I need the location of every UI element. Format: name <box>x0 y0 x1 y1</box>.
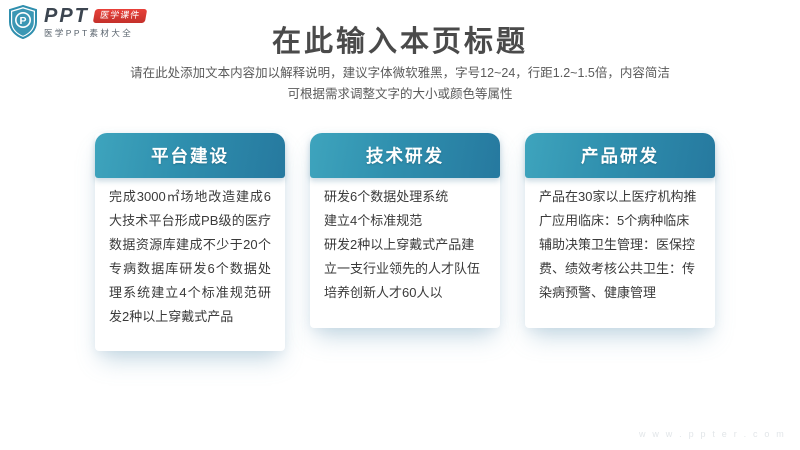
card-title: 产品研发 <box>581 143 659 168</box>
card-platform-construction[interactable]: 完成3000㎡场地改造建成6大技术平台形成PB级的医疗数据资源库建成不少于20个… <box>95 133 285 351</box>
card-text: 完成3000㎡场地改造建成6大技术平台形成PB级的医疗数据资源库建成不少于20个… <box>109 185 271 329</box>
page-subtitle: 请在此处添加文本内容加以解释说明，建议字体微软雅黑，字号12~24，行距1.2~… <box>0 63 800 105</box>
card-title: 技术研发 <box>366 143 444 168</box>
card-text: 研发6个数据处理系统 建立4个标准规范 研发2种以上穿戴式产品建立一支行业领先的… <box>324 185 486 305</box>
card-product-rd[interactable]: 产品在30家以上医疗机构推广应用临床：5个病种临床辅助决策卫生管理：医保控费、绩… <box>525 133 715 351</box>
page-title: 在此输入本页标题 <box>0 18 800 60</box>
card-header[interactable]: 平台建设 <box>95 133 285 178</box>
card-title: 平台建设 <box>151 143 229 168</box>
card-header[interactable]: 技术研发 <box>310 133 500 178</box>
subtitle-line-2: 可根据需求调整文字的大小或颜色等属性 <box>0 84 800 105</box>
subtitle-line-1: 请在此处添加文本内容加以解释说明，建议字体微软雅黑，字号12~24，行距1.2~… <box>0 63 800 84</box>
site-watermark: w w w . p p t e r . c o m <box>639 429 786 439</box>
card-technology-rd[interactable]: 研发6个数据处理系统 建立4个标准规范 研发2种以上穿戴式产品建立一支行业领先的… <box>310 133 500 351</box>
card-group: 完成3000㎡场地改造建成6大技术平台形成PB级的医疗数据资源库建成不少于20个… <box>95 133 715 351</box>
card-header[interactable]: 产品研发 <box>525 133 715 178</box>
card-text: 产品在30家以上医疗机构推广应用临床：5个病种临床辅助决策卫生管理：医保控费、绩… <box>539 185 701 305</box>
